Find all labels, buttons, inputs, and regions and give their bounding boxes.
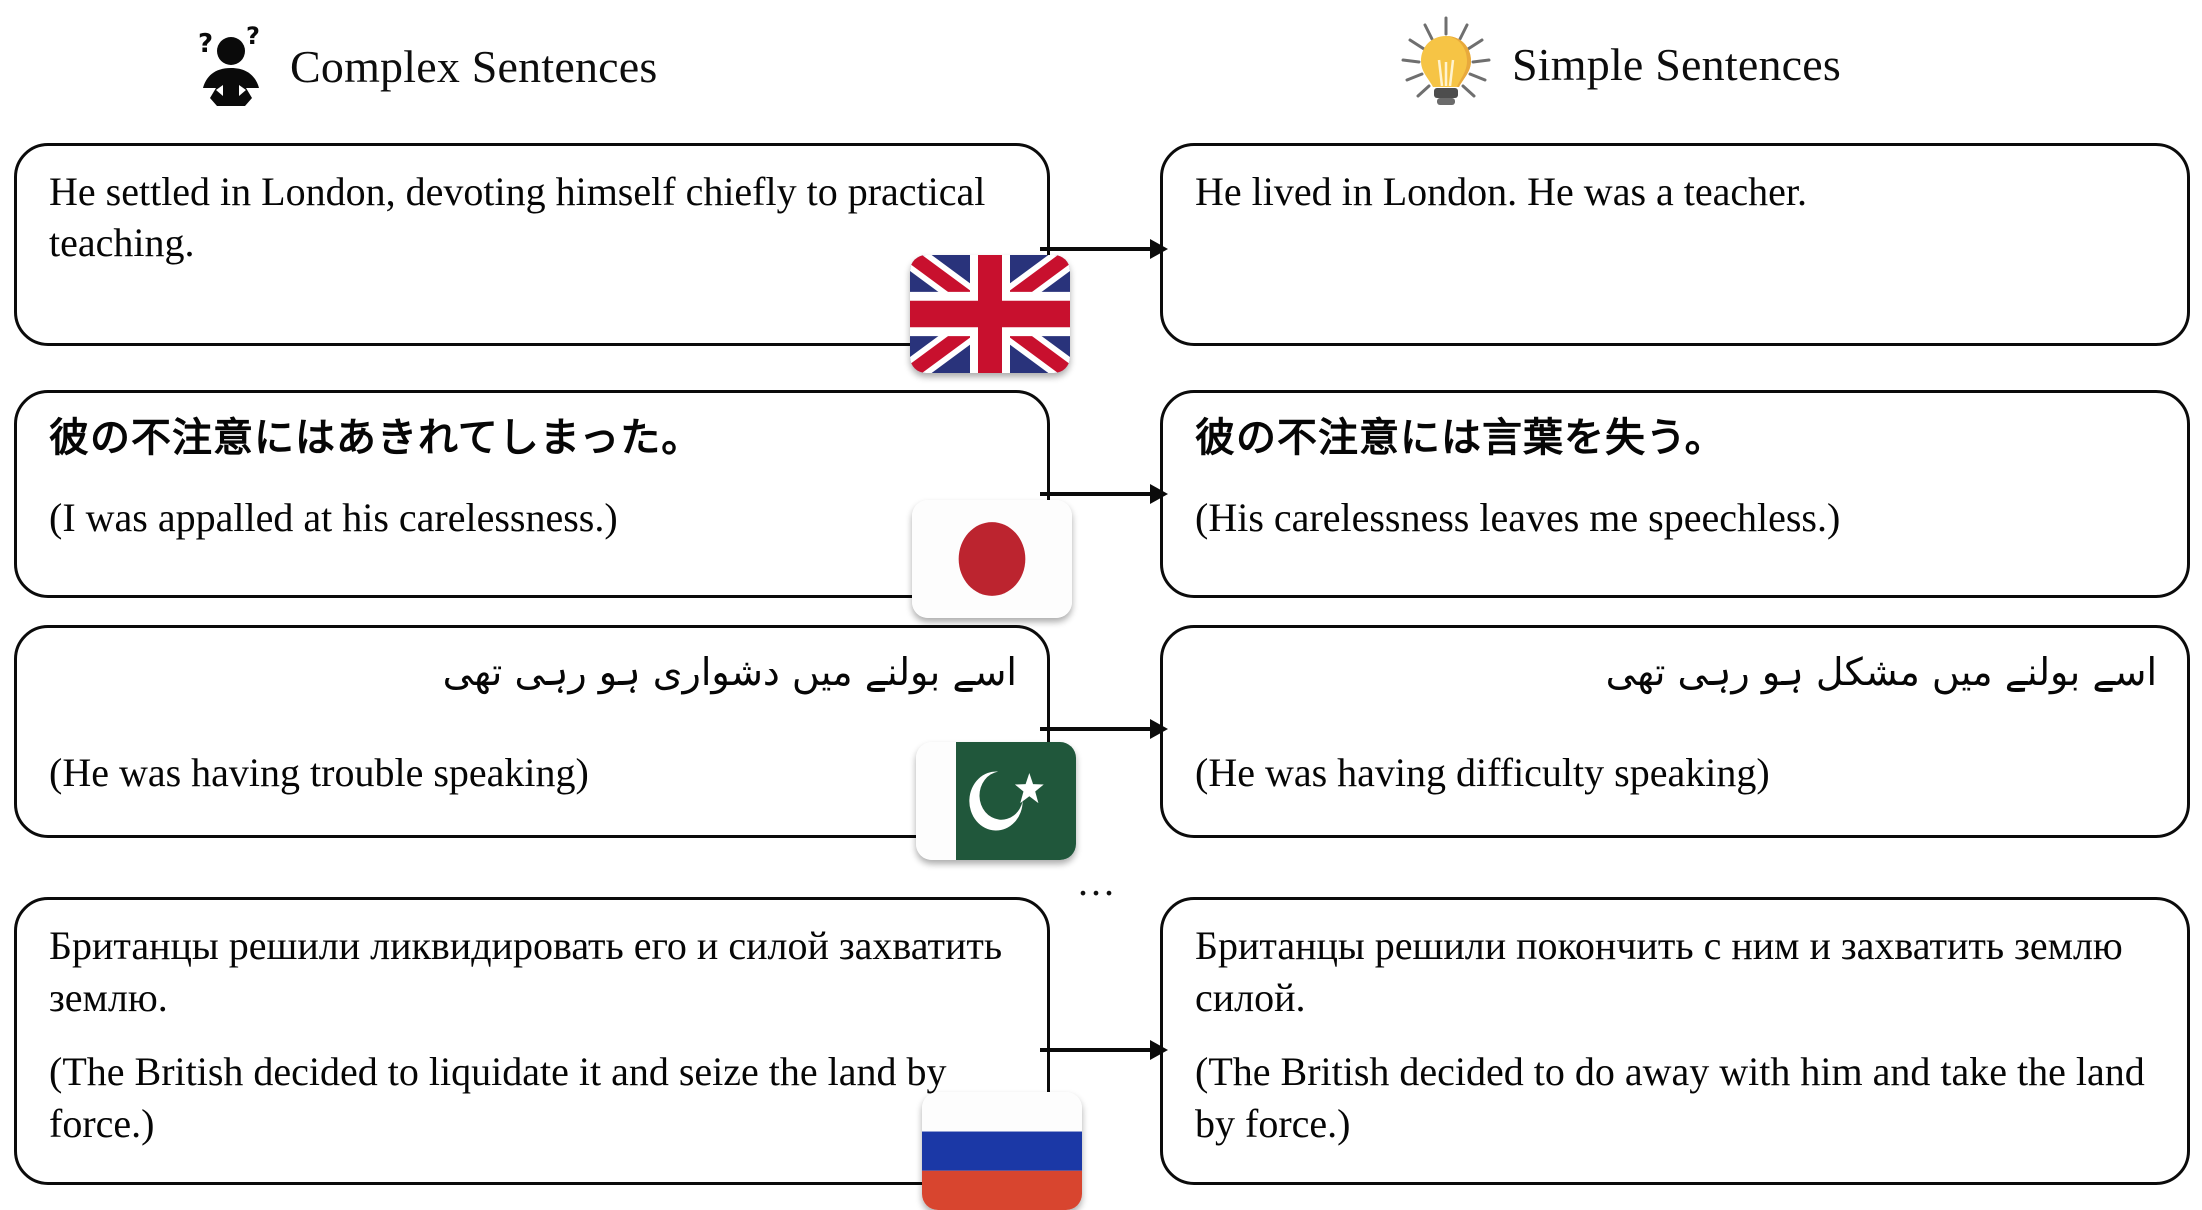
simple-box-4[interactable]: Британцы решили покончить с ним и захват… bbox=[1160, 897, 2190, 1185]
header-complex-label: Complex Sentences bbox=[290, 44, 658, 90]
thinking-person-icon: ? ? bbox=[196, 22, 272, 111]
simple-box-3[interactable]: اسے بولنے میں مشکل ہو رہی تھی (He was ha… bbox=[1160, 625, 2190, 838]
header-simple-label: Simple Sentences bbox=[1512, 42, 1841, 88]
complex-primary-4: Британцы решили ликвидировать его и сило… bbox=[49, 920, 1017, 1024]
complex-gloss-3: (He was having trouble speaking) bbox=[49, 747, 1017, 798]
complex-box-3[interactable]: اسے بولنے میں دشواری ہو رہی تھی (He was … bbox=[14, 625, 1050, 838]
lightbulb-icon bbox=[1398, 16, 1494, 113]
diagram-canvas: ? ? Complex Sentences bbox=[0, 0, 2202, 1204]
complex-box-2[interactable]: 彼の不注意にはあきれてしまった。 (I was appalled at his … bbox=[14, 390, 1050, 598]
complex-gloss-2: (I was appalled at his carelessness.) bbox=[49, 492, 1017, 543]
complex-gloss-4: (The British decided to liquidate it and… bbox=[49, 1046, 1017, 1150]
complex-box-4[interactable]: Британцы решили ликвидировать его и сило… bbox=[14, 897, 1050, 1185]
arrow-connector-3 bbox=[1040, 712, 1170, 746]
arrow-connector-4 bbox=[1040, 1033, 1170, 1067]
simple-primary-3: اسے بولنے میں مشکل ہو رہی تھی bbox=[1195, 648, 2157, 697]
svg-text:?: ? bbox=[198, 29, 213, 59]
complex-primary-3: اسے بولنے میں دشواری ہو رہی تھی bbox=[49, 648, 1017, 697]
complex-primary-1: He settled in London, devoting himself c… bbox=[49, 166, 1017, 268]
simple-primary-2: 彼の不注意には言葉を失う。 bbox=[1195, 413, 2157, 464]
simple-primary-1: He lived in London. He was a teacher. bbox=[1195, 166, 2157, 217]
japan-flag-icon bbox=[912, 500, 1072, 618]
russia-flag-icon bbox=[922, 1092, 1082, 1210]
complex-primary-2: 彼の不注意にはあきれてしまった。 bbox=[49, 413, 1017, 464]
svg-text:?: ? bbox=[246, 22, 260, 50]
pakistan-flag-icon bbox=[916, 742, 1076, 860]
complex-box-1[interactable]: He settled in London, devoting himself c… bbox=[14, 143, 1050, 346]
header-simple-sentences: Simple Sentences bbox=[1398, 16, 1841, 113]
simple-gloss-2: (His carelessness leaves me speechless.) bbox=[1195, 492, 2157, 543]
simple-gloss-3: (He was having difficulty speaking) bbox=[1195, 747, 2157, 798]
simple-primary-4: Британцы решили покончить с ним и захват… bbox=[1195, 920, 2157, 1024]
header-complex-sentences: ? ? Complex Sentences bbox=[196, 22, 658, 111]
uk-flag-icon bbox=[910, 255, 1070, 373]
ellipsis-separator: ... bbox=[1078, 862, 1117, 902]
simple-box-1[interactable]: He lived in London. He was a teacher. bbox=[1160, 143, 2190, 346]
simple-gloss-4: (The British decided to do away with him… bbox=[1195, 1046, 2157, 1150]
simple-box-2[interactable]: 彼の不注意には言葉を失う。 (His carelessness leaves m… bbox=[1160, 390, 2190, 598]
